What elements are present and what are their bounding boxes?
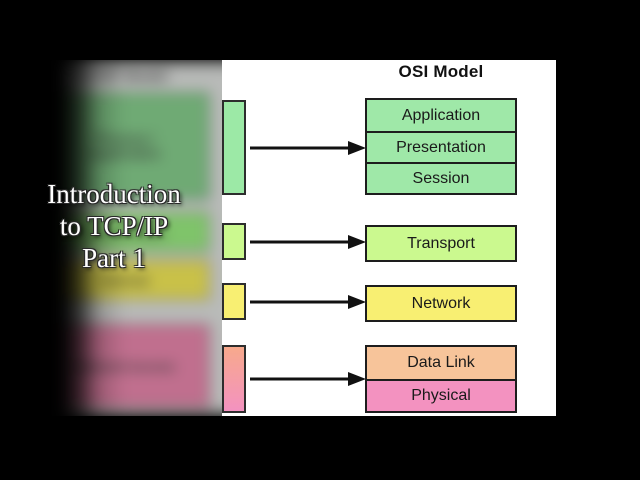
osi-layer-network[interactable]: Network	[367, 287, 515, 320]
tcpip-model-title: TCP/IP Model	[30, 64, 210, 90]
slide-canvas: TCP/IP Model Process / Application Host-…	[0, 0, 640, 480]
osi-group-transport: Transport	[365, 225, 517, 262]
video-title-overlay: Introduction to TCP/IP Part 1	[6, 178, 222, 274]
arrow-to-lower-layers	[250, 371, 366, 387]
arrow-to-transport	[250, 234, 366, 250]
stub-lower-layers	[222, 345, 246, 413]
osi-model-title: OSI Model	[365, 62, 517, 82]
tcpip-box-label: Process / Application	[90, 131, 161, 161]
tcpip-box-label: Internet	[101, 273, 149, 288]
osi-layer-physical[interactable]: Physical	[367, 379, 515, 411]
tcpip-box-network-access: Network Access	[40, 324, 210, 408]
stub-network	[222, 283, 246, 320]
tcpip-box-label: Network Access	[75, 359, 175, 374]
osi-layer-application[interactable]: Application	[367, 100, 515, 131]
osi-layer-transport[interactable]: Transport	[367, 227, 515, 260]
arrow-to-upper-layers	[250, 140, 366, 156]
osi-layer-session[interactable]: Session	[367, 162, 515, 193]
osi-layer-data-link[interactable]: Data Link	[367, 347, 515, 379]
stub-transport	[222, 223, 246, 260]
osi-group-lower-layers: Data Link Physical	[365, 345, 517, 413]
osi-group-upper-layers: Application Presentation Session	[365, 98, 517, 195]
arrow-to-network	[250, 294, 366, 310]
stub-upper-layers	[222, 100, 246, 195]
osi-layer-presentation[interactable]: Presentation	[367, 131, 515, 162]
osi-group-network: Network	[365, 285, 517, 322]
